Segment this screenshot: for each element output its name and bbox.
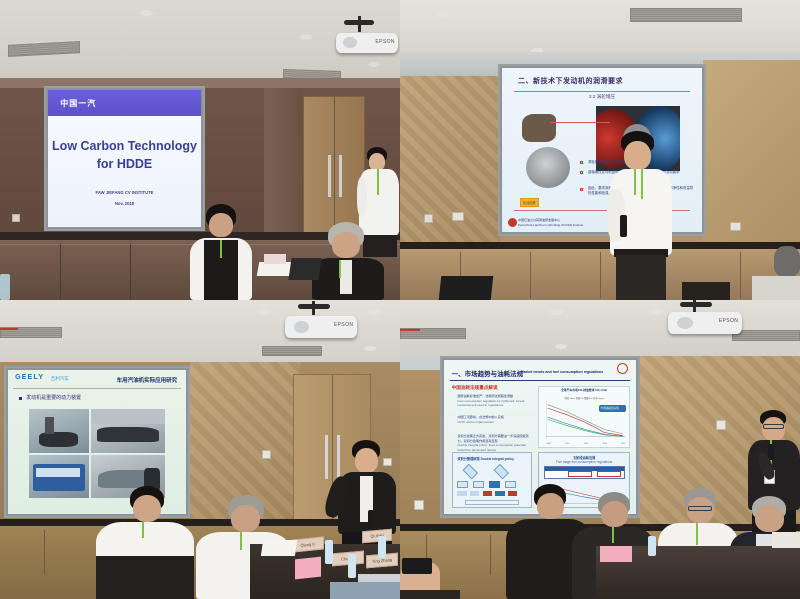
placard-name: Qiang Li xyxy=(293,537,323,551)
attendee-person xyxy=(312,222,384,300)
paper-sheet xyxy=(772,532,800,548)
turbine-wheel-photo xyxy=(526,147,570,188)
attendee-head xyxy=(774,246,800,276)
company-seal-logo xyxy=(617,363,628,374)
placard-name: Qi Xian xyxy=(363,530,391,542)
presenter-person xyxy=(610,131,672,300)
photo-cell-sedan xyxy=(91,409,165,453)
table-title: 五阶段油耗法规 Five stage fuel consumption regu… xyxy=(539,455,629,464)
chart-x-tick-labels: 2005 2010 2015 2020 2025 xyxy=(546,443,625,445)
data-table xyxy=(544,466,625,479)
pink-folder xyxy=(295,557,321,580)
laptop xyxy=(288,258,321,280)
bullet-marker xyxy=(19,397,22,400)
ceiling-light xyxy=(555,344,567,349)
bullet-marker xyxy=(580,171,583,174)
panel-bottom-right: EPSON 一、市场趋势与油耗法规 Market trends and fuel… xyxy=(400,300,800,599)
ceiling-light xyxy=(550,309,563,315)
lanyard xyxy=(634,169,636,195)
projector-brand-label: EPSON xyxy=(375,39,395,45)
geely-logo: GEELY xyxy=(15,374,44,381)
cabinet-seam xyxy=(44,530,45,574)
water-bottle xyxy=(0,274,10,300)
x-tick: 2010 xyxy=(565,443,569,445)
projection-screen-frame: 二、新技术下发动机的润滑要求 2.2 涡轮增压 机油结焦 涡轮使润滑油承受更高的… xyxy=(498,64,706,236)
ceiling-light xyxy=(368,62,380,67)
projector-mount-bracket xyxy=(680,302,712,307)
slide-title-en: Market trends and fuel consumption regul… xyxy=(521,370,603,374)
petrochina-logo xyxy=(508,218,517,227)
ceiling-light xyxy=(368,309,381,315)
ceiling-accent-stripe xyxy=(400,329,420,331)
cabinet-seam xyxy=(490,535,491,575)
head xyxy=(332,232,360,258)
projector: EPSON xyxy=(285,316,357,338)
x-tick: 2025 xyxy=(621,443,625,445)
ceiling-light xyxy=(140,10,153,16)
table-title-en: Five stage fuel consumption regulations xyxy=(539,460,629,464)
x-tick: 2015 xyxy=(584,443,588,445)
projection-screen-frame: 中国一汽 Low Carbon Technology for HDDE FAW … xyxy=(44,86,205,231)
diagram-title: 双积分管理政策 Double integral policy xyxy=(457,456,514,461)
cabinet-seam xyxy=(600,252,601,299)
wall-outlet[interactable] xyxy=(12,214,20,222)
header-rule xyxy=(13,388,180,389)
head xyxy=(133,495,161,522)
diagram-title-cn: 双积分管理政策 xyxy=(457,457,479,461)
turbo-part-photo xyxy=(522,114,556,142)
arm xyxy=(357,177,367,217)
pink-folder xyxy=(600,546,632,562)
head xyxy=(537,493,564,519)
wall-switch[interactable] xyxy=(262,450,271,459)
lanyard xyxy=(641,169,643,199)
head xyxy=(209,213,233,237)
glasses-icon xyxy=(763,424,784,429)
head xyxy=(355,448,378,473)
projector-brand-label: EPSON xyxy=(334,322,354,328)
legend-entry: 日本 Japan xyxy=(593,398,604,400)
head xyxy=(231,505,260,532)
ceiling-vent xyxy=(732,330,800,341)
lanyard xyxy=(696,523,698,545)
door-handle[interactable] xyxy=(328,155,331,197)
lanyard xyxy=(377,169,379,195)
slide-title-cn: 一、市场趋势与油耗法规 xyxy=(452,368,524,378)
wood-wall-panel xyxy=(703,60,800,250)
photo-cell-bus xyxy=(29,455,88,499)
door-handle[interactable] xyxy=(325,435,328,479)
cabinet-seam xyxy=(740,252,741,299)
wall-outlet[interactable] xyxy=(414,500,424,510)
slide-subtitle: 2.2 涡轮增压 xyxy=(502,94,702,100)
slide-title-line1: Low Carbon Technology xyxy=(48,139,201,153)
water-bottle xyxy=(325,540,333,564)
ceiling-accent-stripe xyxy=(0,328,18,330)
panel-top-right: 二、新技术下发动机的润滑要求 2.2 涡轮增压 机油结焦 涡轮使润滑油承受更高的… xyxy=(400,0,800,300)
projector: EPSON xyxy=(336,33,398,53)
glasses-icon xyxy=(688,506,712,511)
slide-title-line2: for HDDE xyxy=(48,157,201,171)
geely-logo-cn: 吉利汽车 xyxy=(51,376,69,382)
slide-title: 车用汽油机实际应用研究 xyxy=(117,376,178,384)
x-tick: 2005 xyxy=(546,443,550,445)
lanyard xyxy=(220,240,222,258)
counter-top xyxy=(400,242,800,249)
slide-bullet: 国家油耗标准加严，法规测试规程性调整 Fuel consumption regu… xyxy=(457,394,530,408)
ceiling-vent xyxy=(630,8,742,22)
chart-legend: 中国 China 美国 US 欧盟 EU 日本 Japan xyxy=(539,396,629,400)
diagram-title-en: Double integral policy xyxy=(481,457,514,461)
chair-back xyxy=(439,276,494,300)
cabinet-seam xyxy=(530,252,531,299)
photo-cell-motorcycle xyxy=(29,409,88,453)
water-bottle xyxy=(378,536,386,558)
water-bottle xyxy=(348,554,356,578)
bullet-en: CLTC will be implemented. xyxy=(457,420,530,425)
co2-limit-chart: 全球汽车市场CO₂排放要求 CO₂ limit 中国 China 美国 US 欧… xyxy=(538,386,630,448)
slide-lubrication: 二、新技术下发动机的润滑要求 2.2 涡轮增压 机油结焦 涡轮使润滑油承受更高的… xyxy=(502,68,702,232)
footer-en: Petrochina Lanzhou Lubricating Oil R&D I… xyxy=(518,223,583,228)
lanyard xyxy=(240,532,242,550)
title-rule xyxy=(514,91,690,92)
chart-callout: 中国油耗目标值 xyxy=(599,405,626,412)
slide-bullet: 双积分政策正式实施，双积分需要进一步深度挖掘潜力，双积分政策作用逐渐显现 Dou… xyxy=(457,434,530,453)
photo-collage: EPSON 中国一汽 Low Carbon Technology for HDD… xyxy=(0,0,800,599)
projector-mount-bracket xyxy=(298,304,330,309)
cabinet-seam xyxy=(130,244,131,300)
slide-bullet: 中国工况即将，在法规中纳入实施 CLTC will be implemented… xyxy=(457,415,530,424)
bullet-en: Fuel consumption regulation be tightened… xyxy=(457,399,530,408)
ceiling-vent xyxy=(262,346,322,356)
lanyard xyxy=(142,522,144,538)
name-placard xyxy=(264,254,286,264)
legend-entry: 欧盟 EU xyxy=(584,398,592,400)
attendee-person xyxy=(96,486,194,599)
bullet-en: Double integral policy; Fuel consumption… xyxy=(457,443,530,452)
chair-back xyxy=(682,282,730,300)
bullet-marker xyxy=(580,161,583,164)
legend-entry: 中国 China xyxy=(564,398,575,400)
projector-lens xyxy=(294,321,310,333)
chart-title: 全球汽车市场CO₂排放要求 CO₂ limit xyxy=(539,388,629,392)
faw-logo: 中国一汽 xyxy=(60,98,96,109)
wall-outlet[interactable] xyxy=(730,222,741,231)
projector-lens xyxy=(343,37,357,48)
foreground-shoulder xyxy=(400,590,460,599)
lanyard xyxy=(612,527,614,543)
ceiling-light xyxy=(651,309,664,315)
legend-entry: 美国 US xyxy=(576,398,584,400)
bullet-text: 发动机是重要的动力装置 xyxy=(26,395,81,401)
photo-grid xyxy=(29,409,164,498)
chair-back xyxy=(96,556,194,599)
wood-grain xyxy=(400,76,500,261)
shirt-front xyxy=(340,260,352,294)
water-bottle xyxy=(648,536,656,556)
cabinet-seam xyxy=(60,244,61,300)
paper-sheet xyxy=(261,540,297,556)
lanyard xyxy=(339,260,341,278)
slide-footer: 中国石油兰州润滑油研发展中心 Petrochina Lanzhou Lubric… xyxy=(518,218,583,227)
leader-line xyxy=(550,122,610,123)
bullet-marker xyxy=(580,188,583,191)
head xyxy=(755,505,784,532)
attendee-person xyxy=(190,204,252,300)
projection-screen: 中国一汽 Low Carbon Technology for HDDE FAW … xyxy=(48,90,201,227)
trousers xyxy=(616,255,666,300)
ceiling-light xyxy=(436,12,450,18)
panel-bottom-left: EPSON GEELY 吉利汽车 车用汽油机实际应用研究 发动机是重要的动力装置 xyxy=(0,300,400,599)
ceiling-light xyxy=(364,346,376,351)
projector: EPSON xyxy=(668,312,742,334)
bullet-cn: 双积分政策正式实施，双积分需要进一步深度挖掘潜力，双积分政策作用逐渐显现 xyxy=(457,434,530,443)
slide-title: 二、新技术下发动机的润滑要求 xyxy=(518,76,623,86)
wall-outlet[interactable] xyxy=(716,420,726,430)
x-tick: 2020 xyxy=(602,443,606,445)
slide-date: Nov. 2018 xyxy=(48,201,201,206)
projector-brand-label: EPSON xyxy=(719,318,739,324)
door-handle[interactable] xyxy=(339,155,342,197)
microphone[interactable] xyxy=(368,510,374,528)
section-heading: 中国油耗法规重点解读 xyxy=(452,385,498,391)
microphone[interactable] xyxy=(620,215,627,237)
projector-mount-bracket xyxy=(344,20,374,25)
head xyxy=(762,417,785,441)
slide-faw-title: 中国一汽 Low Carbon Technology for HDDE FAW … xyxy=(48,90,201,227)
callout-tag: 机油结焦 xyxy=(520,198,539,207)
projector-lens xyxy=(677,317,693,329)
slide-subtitle: FAW JIEFANG CV INSTITUTE xyxy=(48,190,201,195)
projection-screen: 二、新技术下发动机的润滑要求 2.2 涡轮增压 机油结焦 涡轮使润滑油承受更高的… xyxy=(502,68,702,232)
head xyxy=(601,501,628,527)
title-rule xyxy=(450,380,631,381)
ceiling-light xyxy=(300,34,312,40)
slide-bullet: 发动机是重要的动力装置 xyxy=(19,394,81,401)
head xyxy=(624,141,651,170)
ceiling-light xyxy=(258,309,271,315)
wall-outlet[interactable] xyxy=(452,212,464,221)
panel-top-left: EPSON 中国一汽 Low Carbon Technology for HDD… xyxy=(0,0,400,300)
laptop-open xyxy=(752,276,800,300)
wall-switch[interactable] xyxy=(424,214,433,223)
smartphone xyxy=(402,558,432,574)
attendee-shoulder xyxy=(330,582,400,599)
